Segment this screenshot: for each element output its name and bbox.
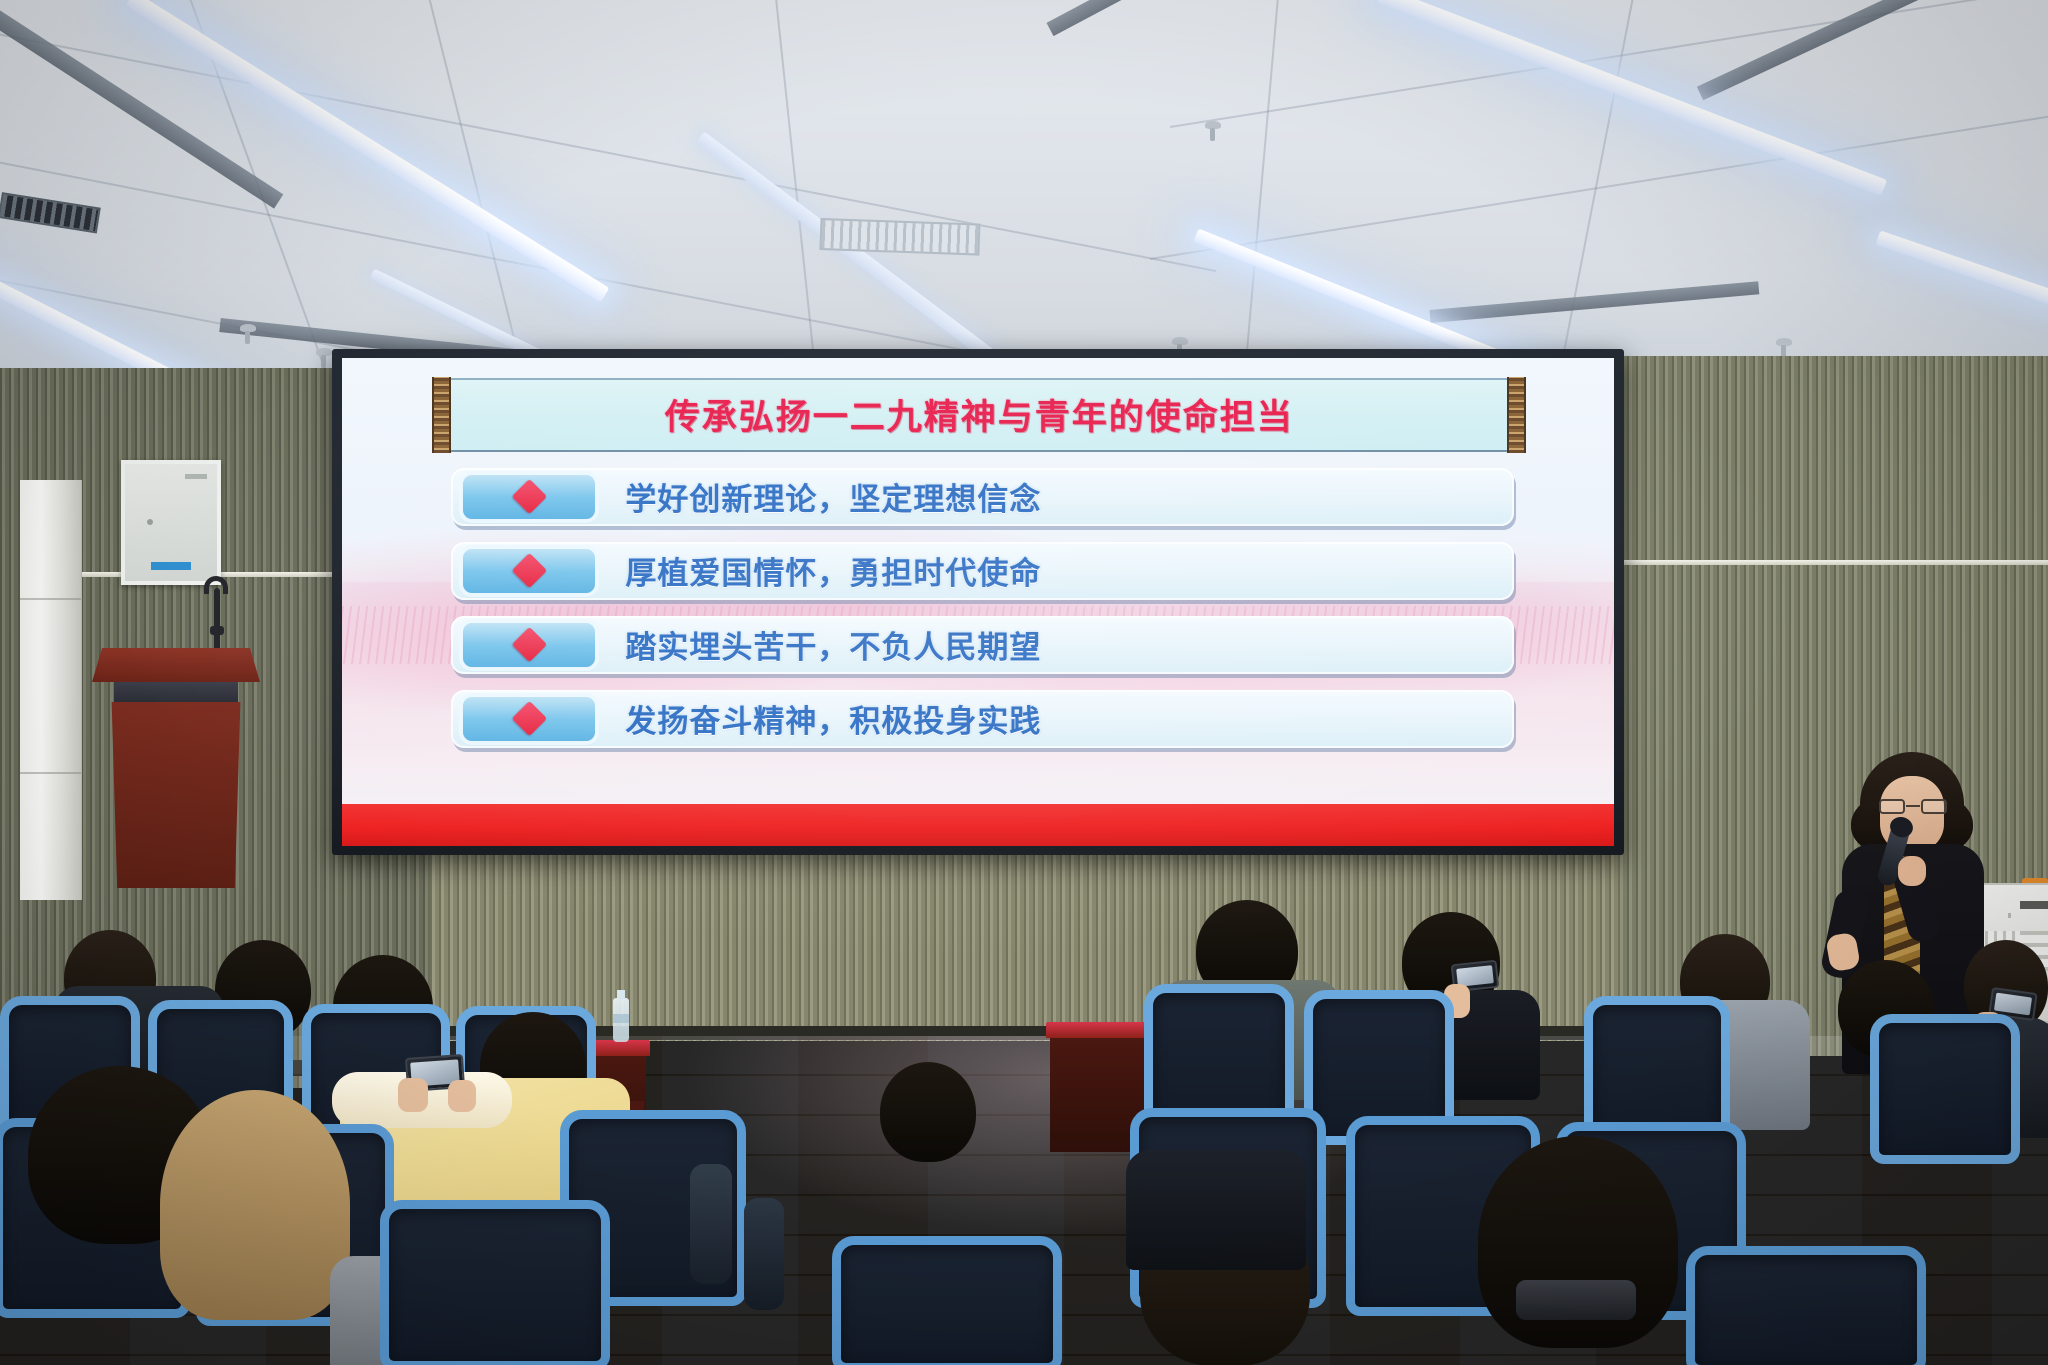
bullet-chip	[463, 475, 595, 519]
cabinet-stripe	[2020, 901, 2048, 909]
slide-bullet-row: 厚植爱国情怀，勇担时代使命	[451, 542, 1513, 600]
projection-screen: 传承弘扬一二九精神与青年的使命担当 学好创新理论，坚定理想信念 厚植爱国情怀，勇…	[332, 349, 1624, 855]
speaker-column	[20, 480, 82, 900]
lecture-hall-scene: 传承弘扬一二九精神与青年的使命担当 学好创新理论，坚定理想信念 厚植爱国情怀，勇…	[0, 0, 2048, 1365]
seat-armrest[interactable]	[744, 1198, 784, 1310]
presentation-slide: 传承弘扬一二九精神与青年的使命担当 学好创新理论，坚定理想信念 厚植爱国情怀，勇…	[342, 358, 1614, 846]
auditorium-seat[interactable]	[832, 1236, 1062, 1365]
audience-head	[160, 1090, 350, 1320]
sprinkler-head	[316, 348, 332, 356]
audience-hand	[448, 1080, 476, 1112]
auditorium-seat[interactable]	[1870, 1014, 2020, 1164]
presenter-right-hand	[1898, 856, 1926, 886]
diamond-icon	[512, 627, 547, 662]
air-vent	[0, 192, 101, 233]
sprinkler-head	[1776, 338, 1792, 346]
podium-body	[106, 702, 246, 888]
bullet-text: 厚植爱国情怀，勇担时代使命	[625, 548, 1041, 593]
seat-armrest[interactable]	[690, 1164, 732, 1284]
presenter-glasses-icon	[1879, 799, 1947, 814]
wall-trim-line	[1600, 560, 2048, 565]
wall-electrical-panel	[121, 460, 221, 585]
podium-mic-stem	[214, 588, 220, 654]
bullet-chip	[463, 623, 595, 667]
audience-torso	[1126, 1150, 1306, 1270]
auditorium-seat[interactable]	[380, 1200, 610, 1365]
water-bottle	[613, 998, 629, 1042]
slide-title: 传承弘扬一二九精神与青年的使命担当	[665, 389, 1294, 440]
bullet-chip	[463, 697, 595, 741]
slide-bullet-row: 发扬奋斗精神，积极投身实践	[451, 690, 1513, 748]
sprinkler-head	[240, 324, 256, 332]
slide-bullet-row: 踏实埋头苦干，不负人民期望	[451, 616, 1513, 674]
bullet-chip	[463, 549, 595, 593]
slide-title-banner: 传承弘扬一二九精神与青年的使命担当	[451, 378, 1507, 452]
ceiling-light-strip	[1377, 0, 1887, 196]
slide-bottom-red-bar	[342, 804, 1614, 846]
ceiling-light-strip	[1876, 230, 2048, 342]
sprinkler-head	[1205, 121, 1221, 129]
diamond-icon	[512, 479, 547, 514]
slide-bullet-list: 学好创新理论，坚定理想信念 厚植爱国情怀，勇担时代使命 踏实埋头苦干，不负人民期…	[451, 468, 1513, 764]
hair-clip	[1516, 1280, 1636, 1320]
panel-lock-icon	[147, 519, 153, 525]
slide-bullet-row: 学好创新理论，坚定理想信念	[451, 468, 1513, 526]
audience-hand	[398, 1078, 428, 1112]
podium	[92, 648, 260, 888]
ceiling	[0, 0, 2048, 372]
bullet-text: 发扬奋斗精神，积极投身实践	[625, 696, 1041, 741]
diamond-icon	[512, 701, 547, 736]
podium-mic-knob	[210, 626, 224, 635]
banner-ornament-left-icon	[432, 377, 451, 453]
sprinkler-head	[1172, 337, 1188, 345]
bullet-text: 踏实埋头苦干，不负人民期望	[625, 622, 1041, 667]
diamond-icon	[512, 553, 547, 588]
audience-head	[880, 1062, 976, 1162]
podium-midband	[114, 682, 238, 702]
panel-label	[151, 562, 191, 570]
air-vent	[819, 218, 980, 256]
bullet-text: 学好创新理论，坚定理想信念	[625, 474, 1041, 519]
podium-top	[92, 648, 260, 682]
panel-tag	[185, 474, 207, 479]
auditorium-seat[interactable]	[1686, 1246, 1926, 1365]
banner-ornament-right-icon	[1507, 377, 1526, 453]
